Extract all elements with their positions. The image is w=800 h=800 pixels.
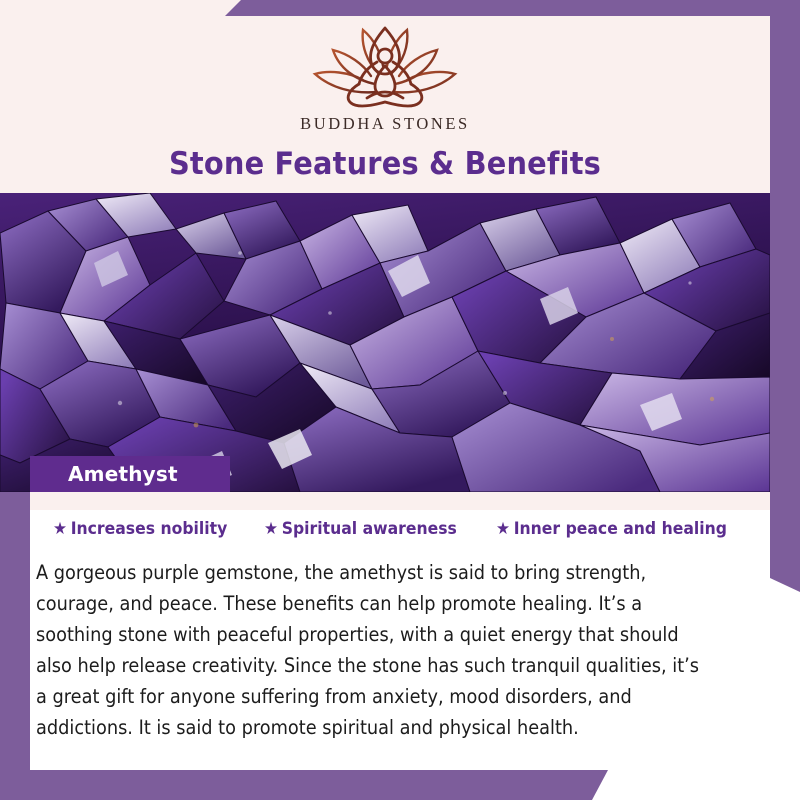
panel-top-gap — [30, 492, 770, 510]
feature-item-0: ★ Increases nobility — [53, 519, 227, 539]
decor-band-left — [0, 492, 30, 800]
feature-item-1: ★ Spiritual awareness — [264, 519, 457, 539]
stone-info-card: BUDDHA STONES Stone Features & Benefits — [0, 0, 800, 800]
feature-label: Increases nobility — [71, 519, 228, 539]
feature-label: Inner peace and healing — [514, 519, 727, 539]
page-title: Stone Features & Benefits — [27, 146, 743, 182]
stone-name-banner: Amethyst — [30, 456, 230, 492]
lotus-meditation-icon — [305, 22, 465, 112]
stone-name-label: Amethyst — [68, 462, 178, 486]
brand-name: BUDDHA STONES — [0, 114, 770, 134]
decor-band-top — [225, 0, 800, 16]
feature-list: ★ Increases nobility ★ Spiritual awarene… — [30, 519, 770, 539]
stone-description: A gorgeous purple gemstone, the amethyst… — [36, 557, 713, 743]
brand-logo: BUDDHA STONES — [0, 22, 770, 134]
star-icon: ★ — [264, 521, 278, 538]
crystal-art — [0, 193, 770, 492]
decor-band-bottom — [0, 770, 608, 800]
feature-label: Spiritual awareness — [282, 519, 457, 539]
amethyst-crystal-cluster-photo: Amethyst — [0, 193, 770, 492]
star-icon: ★ — [53, 521, 67, 538]
decor-band-right — [770, 0, 800, 592]
feature-item-2: ★ Inner peace and healing — [496, 519, 727, 539]
star-icon: ★ — [496, 521, 510, 538]
